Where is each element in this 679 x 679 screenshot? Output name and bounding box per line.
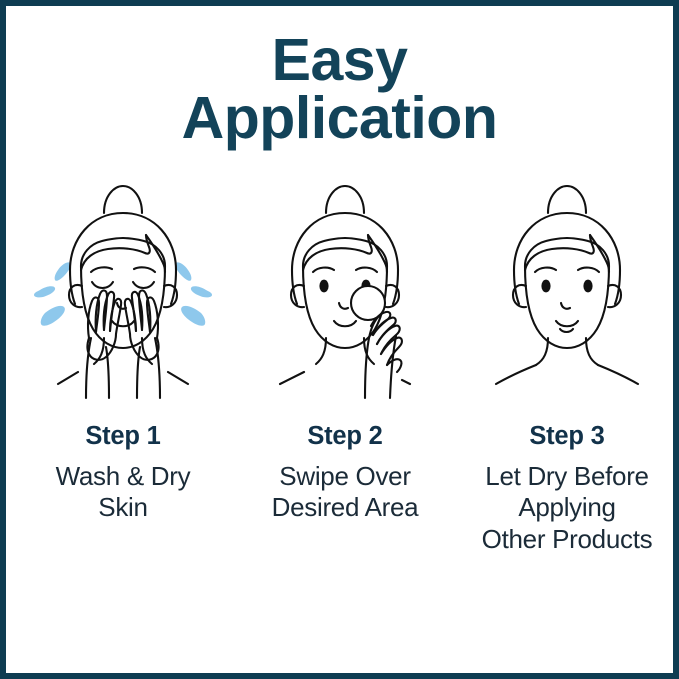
- mouth: [112, 321, 134, 326]
- step-3-description: Let Dry Before Applying Other Products: [482, 461, 653, 556]
- hair-bun: [104, 186, 142, 213]
- step-3-illustration: [456, 166, 678, 402]
- title-line-1: Easy: [182, 32, 498, 90]
- hair-bun: [326, 186, 364, 213]
- step-3-description-line-3: Other Products: [482, 524, 653, 556]
- step-card-1: Step 1 Wash & Dry Skin: [12, 166, 234, 524]
- water-splash-left-icon: [34, 262, 71, 325]
- step-2-description-line-2: Desired Area: [272, 492, 419, 524]
- step-2-description: Swipe Over Desired Area: [272, 461, 419, 524]
- eyebrow-left: [91, 267, 112, 272]
- hair-bun: [548, 186, 586, 213]
- nose: [561, 303, 570, 309]
- step-1-description-line-1: Wash & Dry: [56, 461, 191, 493]
- shoulder-left: [496, 365, 536, 384]
- page-title: Easy Application: [182, 32, 498, 148]
- neck: [536, 338, 598, 365]
- eyebrow-right: [356, 267, 377, 271]
- eyebrow-right: [134, 267, 155, 272]
- step-1-description-line-2: Skin: [56, 492, 191, 524]
- eye-right-closed: [133, 282, 154, 288]
- easy-application-infographic: Easy Application: [0, 0, 679, 679]
- step-card-2: Step 2 Swipe Over Desired Area: [234, 166, 456, 524]
- eye-left-open: [541, 279, 550, 292]
- eye-left-open: [319, 279, 328, 292]
- eyebrow-left: [313, 267, 334, 271]
- step-3-description-line-1: Let Dry Before: [482, 461, 653, 493]
- step-1-illustration: [12, 166, 234, 402]
- shoulder-right: [598, 365, 638, 384]
- step-2-heading: Step 2: [307, 422, 382, 451]
- step-3-description-line-2: Applying: [482, 492, 653, 524]
- forearm-holding-outer: [390, 336, 396, 398]
- step-card-3: Step 3 Let Dry Before Applying Other Pro…: [456, 166, 678, 556]
- water-splash-right-icon: [175, 262, 212, 325]
- shoulder-line-left: [58, 372, 78, 384]
- mouth: [556, 321, 578, 326]
- steps-row: Step 1 Wash & Dry Skin: [6, 166, 673, 556]
- shoulder-line-left: [280, 372, 304, 384]
- shoulder-line-right: [168, 372, 188, 384]
- eyebrow-right: [578, 267, 599, 271]
- step-3-heading: Step 3: [529, 422, 604, 451]
- step-2-description-line-1: Swipe Over: [272, 461, 419, 493]
- nose: [339, 303, 348, 309]
- title-line-2: Application: [182, 90, 498, 148]
- mouth: [334, 321, 356, 326]
- step-1-description: Wash & Dry Skin: [56, 461, 191, 524]
- mouth-lower: [560, 329, 573, 332]
- step-1-heading: Step 1: [85, 422, 160, 451]
- eye-right-open: [583, 279, 592, 292]
- eyebrow-left: [535, 267, 556, 271]
- step-2-illustration: [234, 166, 456, 402]
- eye-left-closed: [92, 282, 113, 288]
- shoulder-line-right: [402, 380, 410, 384]
